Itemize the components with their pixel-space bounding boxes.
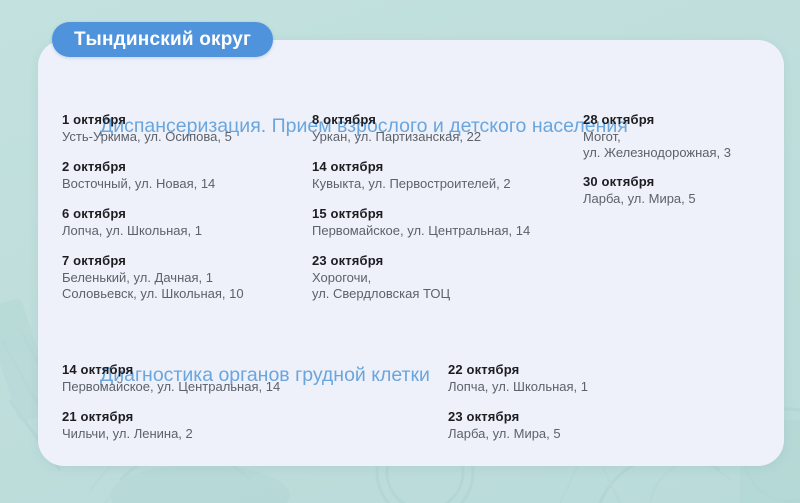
schedule-entry: 15 октября Первомайское, ул. Центральная… (312, 206, 530, 239)
schedule-entry: 23 октября Хорогочи, ул. Свердловская ТО… (312, 253, 450, 301)
entry-date: 21 октября (62, 409, 193, 424)
schedule-entry: 28 октября Могот, ул. Железнодорожная, 3 (583, 112, 731, 160)
entry-address-line: Беленький, ул. Дачная, 1 (62, 270, 244, 286)
entry-date: 15 октября (312, 206, 530, 221)
schedule-entry: 30 октября Ларба, ул. Мира, 5 (583, 174, 696, 207)
poster-page: Диспансеризация. Прием взрослого и детск… (0, 0, 800, 503)
entry-address-line: Уркан, ул. Партизанская, 22 (312, 129, 481, 145)
entry-address-line: Восточный, ул. Новая, 14 (62, 176, 215, 192)
entry-date: 7 октября (62, 253, 244, 268)
entry-address-line: Усть-Уркима, ул. Осипова, 5 (62, 129, 232, 145)
entry-date: 2 октября (62, 159, 215, 174)
schedule-entry: 21 октября Чильчи, ул. Ленина, 2 (62, 409, 193, 442)
entry-address-line: ул. Железнодорожная, 3 (583, 145, 731, 161)
schedule-entry: 7 октября Беленький, ул. Дачная, 1 Солов… (62, 253, 244, 301)
entry-date: 23 октября (312, 253, 450, 268)
entry-date: 14 октября (62, 362, 280, 377)
entry-address-line: Могот, (583, 129, 731, 145)
entry-address-line: Ларба, ул. Мира, 5 (448, 426, 561, 442)
district-badge: Тындинский округ (52, 22, 273, 57)
entry-date: 14 октября (312, 159, 511, 174)
schedule-entry: 22 октября Лопча, ул. Школьная, 1 (448, 362, 588, 395)
entry-date: 8 октября (312, 112, 481, 127)
entry-address-line: Хорогочи, (312, 270, 450, 286)
entry-address-line: Чильчи, ул. Ленина, 2 (62, 426, 193, 442)
schedule-entry: 1 октября Усть-Уркима, ул. Осипова, 5 (62, 112, 232, 145)
entry-date: 28 октября (583, 112, 731, 127)
entry-address-line: Кувыкта, ул. Первостроителей, 2 (312, 176, 511, 192)
entry-address-line: Ларба, ул. Мира, 5 (583, 191, 696, 207)
entry-address-line: Соловьевск, ул. Школьная, 10 (62, 286, 244, 302)
schedule-entry: 8 октября Уркан, ул. Партизанская, 22 (312, 112, 481, 145)
entry-date: 22 октября (448, 362, 588, 377)
entry-address-line: Лопча, ул. Школьная, 1 (62, 223, 202, 239)
entry-address-line: ул. Свердловская ТОЦ (312, 286, 450, 302)
schedule-entry: 23 октября Ларба, ул. Мира, 5 (448, 409, 561, 442)
entry-date: 23 октября (448, 409, 561, 424)
entry-address-line: Лопча, ул. Школьная, 1 (448, 379, 588, 395)
schedule-entry: 2 октября Восточный, ул. Новая, 14 (62, 159, 215, 192)
entry-address-line: Первомайское, ул. Центральная, 14 (62, 379, 280, 395)
schedule-entry: 6 октября Лопча, ул. Школьная, 1 (62, 206, 202, 239)
schedule-entry: 14 октября Первомайское, ул. Центральная… (62, 362, 280, 395)
entry-date: 30 октября (583, 174, 696, 189)
entry-date: 1 октября (62, 112, 232, 127)
entry-date: 6 октября (62, 206, 202, 221)
entry-address-line: Первомайское, ул. Центральная, 14 (312, 223, 530, 239)
schedule-entry: 14 октября Кувыкта, ул. Первостроителей,… (312, 159, 511, 192)
schedule-card: Диспансеризация. Прием взрослого и детск… (38, 40, 784, 466)
